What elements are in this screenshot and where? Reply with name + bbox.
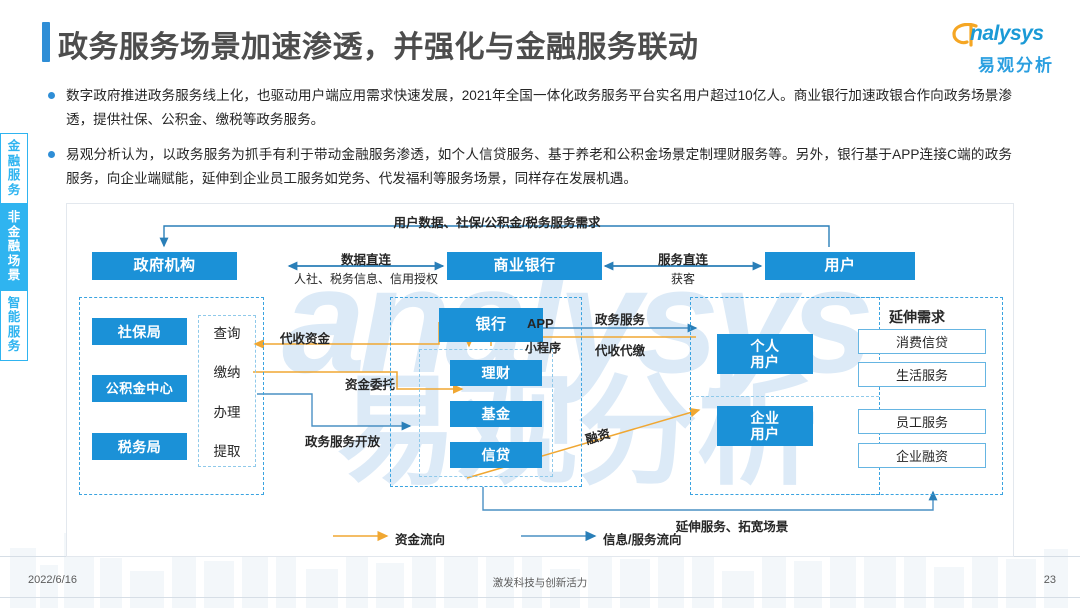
actor-commercial-bank[interactable]: 商业银行 [447, 252, 602, 280]
gov-action-handle[interactable]: 办理 [214, 401, 241, 421]
gov-action-pay[interactable]: 缴纳 [214, 361, 241, 381]
sidebar-item-intelligent-service[interactable]: 智 能 服 务 [0, 290, 28, 361]
tab-char: 景 [1, 268, 27, 283]
entity-tax-bureau[interactable]: 税务局 [92, 433, 187, 460]
link-label-service-direct: 服务直连 [658, 249, 708, 268]
tab-char: 金 [1, 139, 27, 154]
user-type-personal[interactable]: 个人 用户 [717, 334, 813, 374]
extended-item-consumer-credit[interactable]: 消费信贷 [858, 329, 986, 354]
link-sublabel-data-direct: 人社、税务信息、信用授权 [294, 270, 438, 287]
tab-char: 融 [1, 154, 27, 169]
actor-user[interactable]: 用户 [765, 252, 915, 280]
user-personal-line1: 个人 [751, 338, 780, 354]
label-app: APP [527, 316, 554, 331]
extended-item-employee-service[interactable]: 员工服务 [858, 409, 986, 434]
logo-chinese-name: 易观分析 [978, 51, 1054, 76]
footer-slogan: 激发科技与创新活力 [493, 575, 588, 590]
label-collect-funds: 代收资金 [280, 328, 330, 347]
label-collect-and-pay: 代收代缴 [595, 340, 645, 359]
list-item: 数字政府推进政务服务线上化，也驱动用户端应用需求快速发展，2021年全国一体化政… [46, 84, 1012, 132]
footer-date: 2022/6/16 [28, 574, 77, 586]
bullet-list: 数字政府推进政务服务线上化，也驱动用户端应用需求快速发展，2021年全国一体化政… [46, 84, 1012, 202]
side-tab-group: 金 融 服 务 非 金 融 场 景 智 能 服 务 [0, 133, 28, 361]
tab-char: 服 [1, 168, 27, 183]
link-label-data-direct: 数据直连 [341, 249, 391, 268]
tab-char: 智 [1, 296, 27, 311]
bullet-dot-icon [48, 92, 55, 99]
product-wealth-management[interactable]: 理财 [450, 360, 542, 386]
tab-char: 服 [1, 325, 27, 340]
sidebar-item-nonfinancial-scene[interactable]: 非 金 融 场 景 [0, 204, 28, 290]
footer-divider-bottom [0, 597, 1080, 598]
actor-government[interactable]: 政府机构 [92, 252, 237, 280]
gov-action-query[interactable]: 查询 [214, 322, 241, 342]
user-enterprise-line2: 用户 [751, 426, 780, 442]
label-gov-service: 政务服务 [595, 309, 645, 328]
extended-item-enterprise-financing[interactable]: 企业融资 [858, 443, 986, 468]
tab-char: 非 [1, 210, 27, 225]
extended-item-life-service[interactable]: 生活服务 [858, 362, 986, 387]
list-item: 易观分析认为，以政务服务为抓手有利于带动金融服务渗透，如个人信贷服务、基于养老和… [46, 143, 1012, 191]
tab-char: 务 [1, 183, 27, 198]
legend-item-info-service-flow: 信息/服务流向 [603, 529, 681, 548]
user-personal-line2: 用户 [751, 354, 780, 370]
tab-char: 能 [1, 310, 27, 325]
page-title: 政务服务场景加速渗透，并强化与金融服务联动 [58, 22, 699, 66]
entity-housing-fund-center[interactable]: 公积金中心 [92, 375, 187, 402]
label-fund-entrust: 资金委托 [345, 374, 395, 393]
user-enterprise-line1: 企业 [751, 410, 780, 426]
logo-wordmark: nalysys [970, 22, 1044, 46]
analysys-logo: nalysys 易观分析 [952, 22, 1064, 74]
sidebar-item-financial-service[interactable]: 金 融 服 务 [0, 133, 28, 204]
bullet-text: 数字政府推进政务服务线上化，也驱动用户端应用需求快速发展，2021年全国一体化政… [66, 88, 1012, 127]
bullet-dot-icon [48, 151, 55, 158]
user-type-enterprise[interactable]: 企业 用户 [717, 406, 813, 446]
bottom-flow-label: 延伸服务、拓宽场景 [676, 516, 789, 535]
entity-social-security-bureau[interactable]: 社保局 [92, 318, 187, 345]
tab-char: 场 [1, 254, 27, 269]
extended-demand-title: 延伸需求 [889, 307, 945, 327]
link-sublabel-service-direct: 获客 [671, 270, 695, 287]
bullet-text: 易观分析认为，以政务服务为抓手有利于带动金融服务渗透，如个人信贷服务、基于养老和… [66, 147, 1012, 186]
architecture-diagram: analysys 易观分析 [66, 203, 1014, 557]
footer-page-number: 23 [1044, 574, 1056, 586]
slide-page: 政务服务场景加速渗透，并强化与金融服务联动 nalysys 易观分析 数字政府推… [0, 0, 1080, 608]
tab-char: 金 [1, 225, 27, 240]
product-credit[interactable]: 信贷 [450, 442, 542, 468]
tab-char: 融 [1, 239, 27, 254]
label-mini-program: 小程序 [525, 339, 561, 356]
title-accent-bar [42, 22, 50, 62]
tab-char: 务 [1, 339, 27, 354]
product-fund[interactable]: 基金 [450, 401, 542, 427]
label-gov-service-open: 政务服务开放 [305, 431, 380, 450]
gov-action-withdraw[interactable]: 提取 [214, 440, 241, 460]
top-flow-label: 用户数据、社保/公积金/税务服务需求 [394, 212, 601, 231]
legend-item-fund-flow: 资金流向 [395, 529, 445, 548]
gov-action-list: 查询 缴纳 办理 提取 [198, 322, 256, 460]
